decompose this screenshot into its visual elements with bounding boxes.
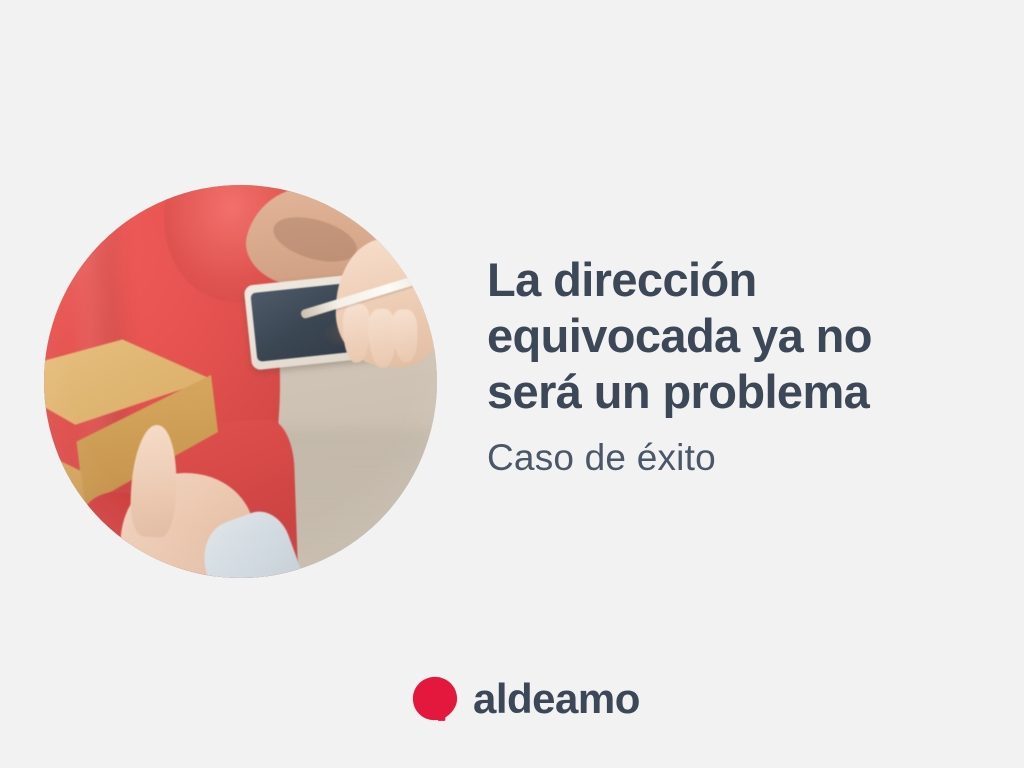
headline-line-1: La dirección xyxy=(487,253,757,306)
page-title: La dirección equivocada ya no será un pr… xyxy=(487,252,997,420)
slide-canvas: La dirección equivocada ya no será un pr… xyxy=(0,0,1024,768)
customer-hand-lower xyxy=(98,412,289,578)
photo-scene xyxy=(44,185,437,578)
headline-line-3: será un problema xyxy=(487,365,869,418)
aldeamo-logo: aldeamo xyxy=(411,675,640,723)
text-block: La dirección equivocada ya no será un pr… xyxy=(487,252,997,480)
aldeamo-wordmark: aldeamo xyxy=(473,677,640,721)
phone-and-hand xyxy=(242,245,437,399)
hero-photo-circle xyxy=(44,185,437,578)
headline-line-2: equivocada ya no xyxy=(487,309,872,362)
subtitle: Caso de éxito xyxy=(487,436,997,480)
hand-thumb xyxy=(128,424,179,538)
finger xyxy=(343,303,370,362)
aldeamo-a-mark-icon xyxy=(411,675,459,723)
